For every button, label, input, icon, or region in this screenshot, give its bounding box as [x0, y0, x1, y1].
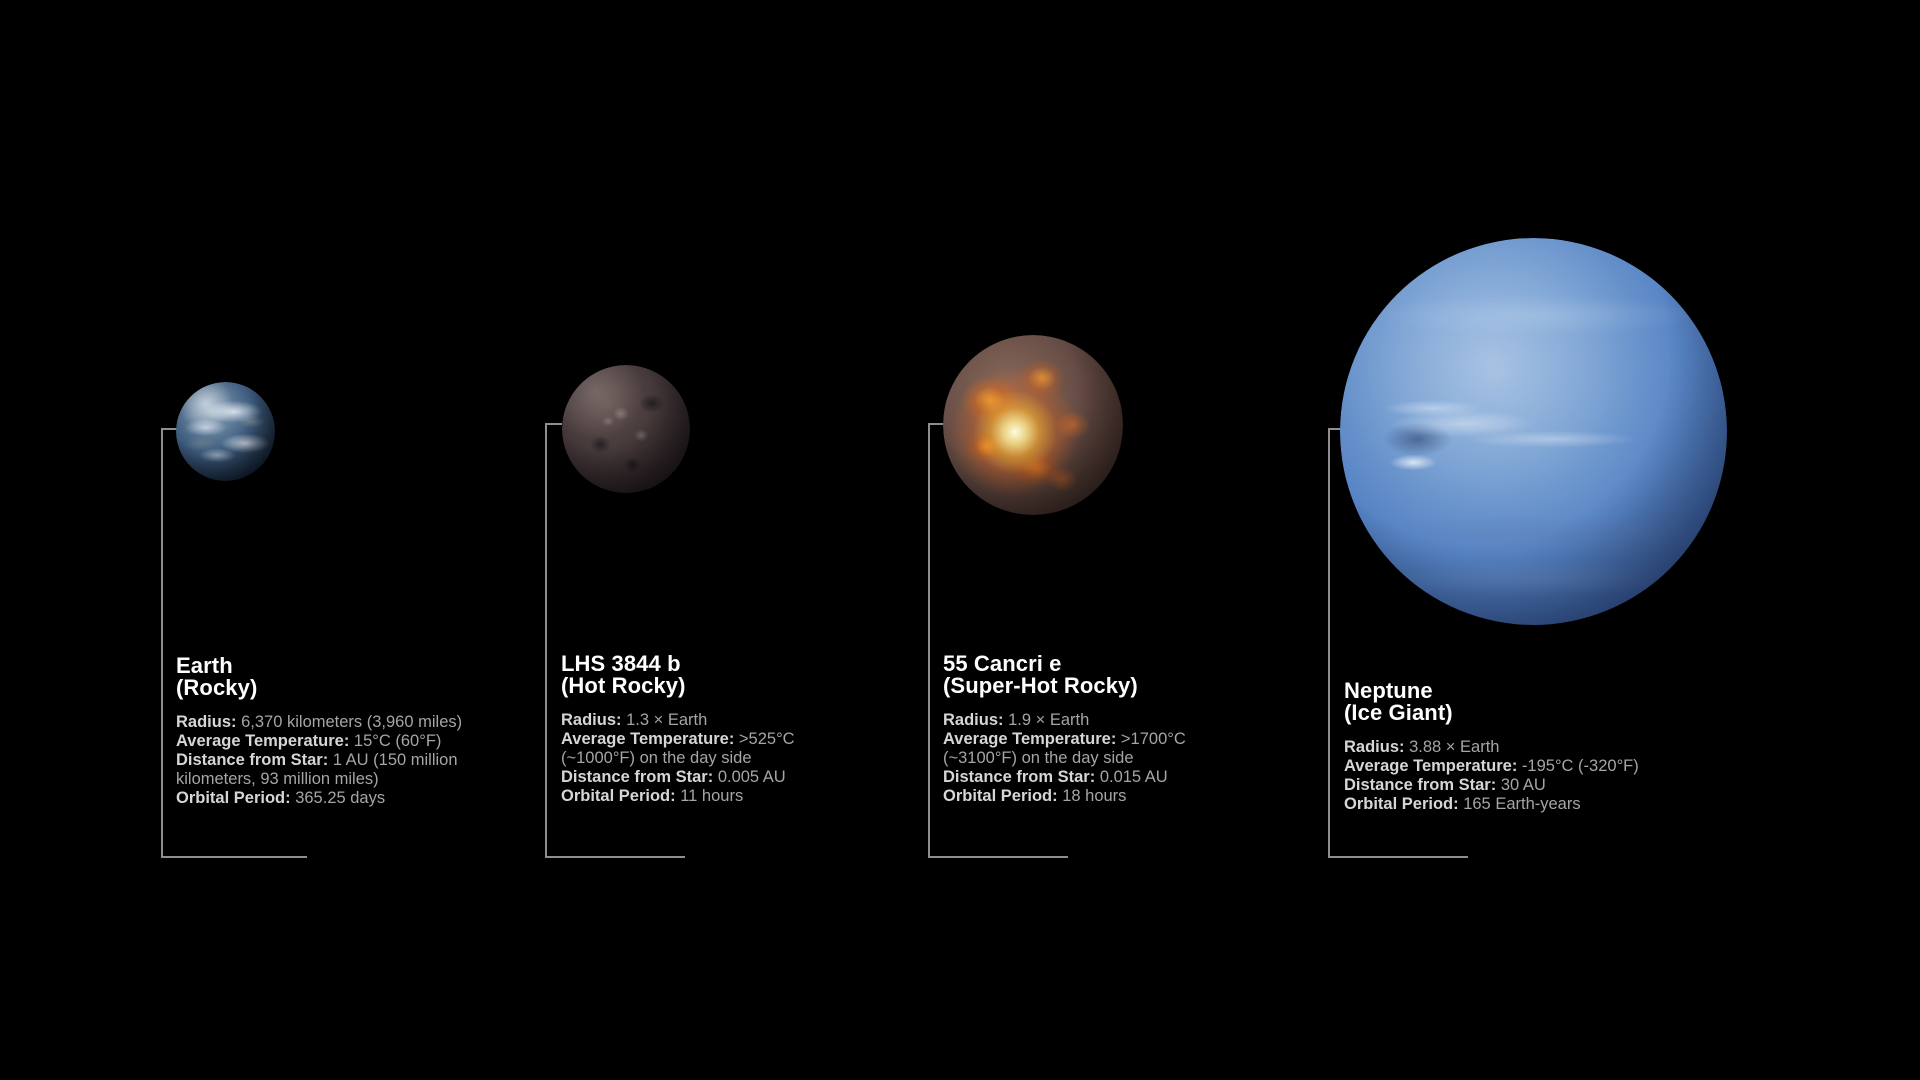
spec-row: Average Temperature: -195°C (-320°F): [1344, 757, 1674, 776]
spec-value: 365.25 days: [295, 789, 385, 807]
bracket-bottom-tick: [1328, 856, 1468, 858]
planet-title-neptune: Neptune(Ice Giant): [1344, 680, 1674, 724]
spec-row: Orbital Period: 11 hours: [561, 787, 831, 806]
spec-row: Distance from Star: 30 AU: [1344, 776, 1674, 795]
spec-row: Average Temperature: >525°C (~1000°F) on…: [561, 730, 831, 768]
spec-row: Orbital Period: 165 Earth-years: [1344, 795, 1674, 814]
info-panel-lhs-3844-b: LHS 3844 b(Hot Rocky) Radius: 1.3 × Eart…: [561, 653, 831, 806]
spec-value: 18 hours: [1062, 787, 1126, 805]
planet-title-earth: Earth(Rocky): [176, 655, 496, 699]
spec-label: Orbital Period:: [561, 787, 676, 805]
spec-label: Orbital Period:: [943, 787, 1058, 805]
planet-category: (Super-Hot Rocky): [943, 673, 1138, 698]
spec-value: 0.005 AU: [718, 768, 786, 786]
spec-value: 6,370 kilometers (3,960 miles): [241, 713, 462, 731]
spec-row: Radius: 6,370 kilometers (3,960 miles): [176, 713, 496, 732]
planet-comparison-canvas: Earth(Rocky) Radius: 6,370 kilometers (3…: [0, 0, 1920, 1080]
spec-row: Distance from Star: 1 AU (150 million ki…: [176, 751, 496, 789]
bracket-bottom-tick: [545, 856, 685, 858]
spec-value: 30 AU: [1501, 776, 1546, 794]
spec-list-55-cancri-e: Radius: 1.9 × Earth Average Temperature:…: [943, 711, 1223, 806]
spec-value: 11 hours: [680, 787, 743, 805]
info-panel-55-cancri-e: 55 Cancri e(Super-Hot Rocky) Radius: 1.9…: [943, 653, 1223, 806]
spec-label: Radius:: [561, 711, 622, 729]
spec-value: 1.3 × Earth: [626, 711, 707, 729]
spec-value: 0.015 AU: [1100, 768, 1168, 786]
spec-row: Radius: 1.9 × Earth: [943, 711, 1223, 730]
spec-label: Radius:: [176, 713, 237, 731]
bracket-top-tick: [545, 423, 562, 425]
55-cancri-e-planet-image: [943, 335, 1123, 515]
spec-label: Radius:: [943, 711, 1004, 729]
neptune-terminator-shading: [1340, 238, 1727, 625]
spec-row: Average Temperature: >1700°C (~3100°F) o…: [943, 730, 1223, 768]
spec-row: Radius: 3.88 × Earth: [1344, 738, 1674, 757]
spec-row: Average Temperature: 15°C (60°F): [176, 732, 496, 751]
spec-label: Radius:: [1344, 738, 1405, 756]
spec-list-lhs-3844-b: Radius: 1.3 × Earth Average Temperature:…: [561, 711, 831, 806]
lhs-3844-b-terminator-shading: [562, 365, 690, 493]
bracket-bottom-tick: [928, 856, 1068, 858]
earth-terminator-shading: [176, 382, 275, 481]
spec-row: Radius: 1.3 × Earth: [561, 711, 831, 730]
earth-planet-image: [176, 382, 275, 481]
spec-value: 15°C (60°F): [354, 732, 441, 750]
lhs-3844-b-planet-image: [562, 365, 690, 493]
spec-row: Distance from Star: 0.015 AU: [943, 768, 1223, 787]
spec-value: 3.88 × Earth: [1409, 738, 1499, 756]
spec-label: Orbital Period:: [1344, 795, 1459, 813]
planet-title-lhs-3844-b: LHS 3844 b(Hot Rocky): [561, 653, 831, 697]
info-panel-earth: Earth(Rocky) Radius: 6,370 kilometers (3…: [176, 655, 496, 808]
planet-category: (Rocky): [176, 675, 257, 700]
spec-label: Average Temperature:: [943, 730, 1116, 748]
spec-label: Distance from Star:: [561, 768, 713, 786]
bracket-bottom-tick: [161, 856, 307, 858]
bracket-vertical-line: [1328, 428, 1330, 858]
spec-label: Distance from Star:: [176, 751, 328, 769]
spec-label: Distance from Star:: [943, 768, 1095, 786]
spec-value: 1.9 × Earth: [1008, 711, 1089, 729]
spec-value: -195°C (-320°F): [1522, 757, 1639, 775]
spec-label: Orbital Period:: [176, 789, 291, 807]
spec-row: Distance from Star: 0.005 AU: [561, 768, 831, 787]
bracket-vertical-line: [928, 423, 930, 858]
planet-category: (Hot Rocky): [561, 673, 686, 698]
info-panel-neptune: Neptune(Ice Giant) Radius: 3.88 × Earth …: [1344, 680, 1674, 814]
planet-category: (Ice Giant): [1344, 700, 1453, 725]
spec-value: 165 Earth-years: [1463, 795, 1580, 813]
spec-label: Average Temperature:: [561, 730, 734, 748]
bracket-vertical-line: [545, 423, 547, 858]
planet-title-55-cancri-e: 55 Cancri e(Super-Hot Rocky): [943, 653, 1223, 697]
spec-label: Distance from Star:: [1344, 776, 1496, 794]
55-cancri-e-terminator-shading: [943, 335, 1123, 515]
spec-list-earth: Radius: 6,370 kilometers (3,960 miles) A…: [176, 713, 496, 808]
spec-label: Average Temperature:: [176, 732, 349, 750]
spec-row: Orbital Period: 18 hours: [943, 787, 1223, 806]
spec-row: Orbital Period: 365.25 days: [176, 789, 496, 808]
neptune-planet-image: [1340, 238, 1727, 625]
spec-label: Average Temperature:: [1344, 757, 1517, 775]
spec-list-neptune: Radius: 3.88 × Earth Average Temperature…: [1344, 738, 1674, 814]
bracket-vertical-line: [161, 428, 163, 858]
